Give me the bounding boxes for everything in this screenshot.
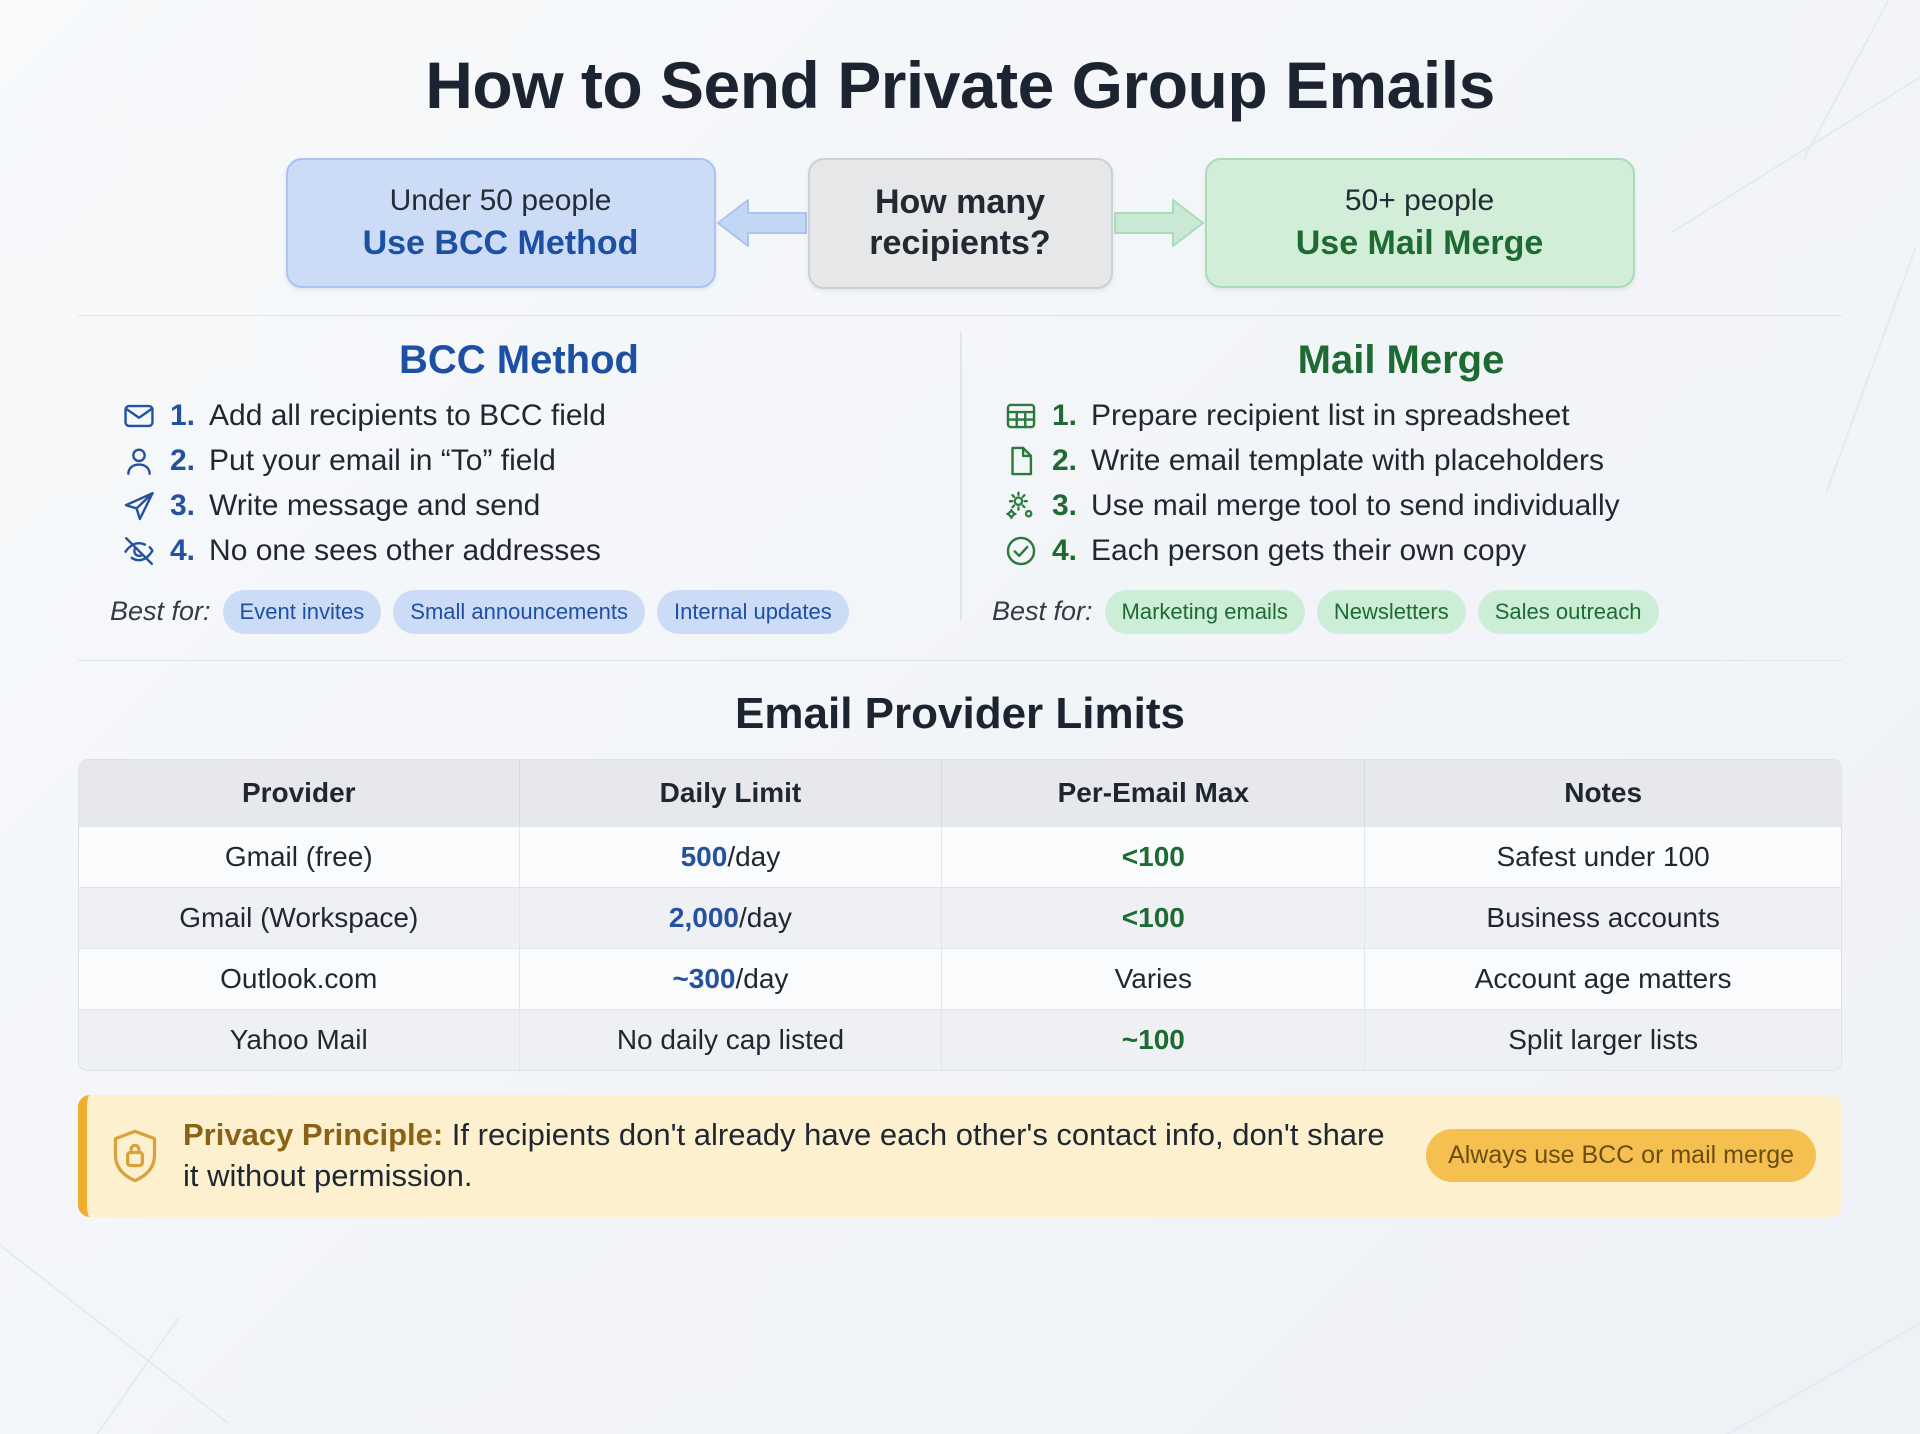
mailmerge-step-3: 3. Use mail merge tool to send individua… <box>982 489 1820 523</box>
column-header-notes: Notes <box>1365 760 1841 826</box>
per-email-value: Varies <box>1115 963 1192 994</box>
divider-bottom <box>78 660 1842 661</box>
mailmerge-step-1-number: 1. <box>1052 399 1077 433</box>
cell-provider: Yahoo Mail <box>79 1009 520 1070</box>
bcc-best-for-label: Best for: <box>110 596 211 627</box>
bcc-tag-1: Event invites <box>223 590 382 634</box>
flow-box-mailmerge: 50+ people Use Mail Merge <box>1205 158 1635 288</box>
cell-provider: Gmail (free) <box>79 826 520 887</box>
cell-per-email-max: <100 <box>942 826 1365 887</box>
bcc-step-1-text: Add all recipients to BCC field <box>209 399 606 433</box>
column-mailmerge: Mail Merge 1. Prepare recipient list in … <box>960 338 1842 634</box>
cell-per-email-max: <100 <box>942 887 1365 948</box>
privacy-principle-text: Privacy Principle: If recipients don't a… <box>183 1115 1404 1197</box>
mailmerge-step-4: 4. Each person gets their own copy <box>982 534 1820 568</box>
decision-flow: Under 50 people Use BCC Method How many … <box>78 158 1842 289</box>
cell-daily-limit: ~300/day <box>520 948 943 1009</box>
provider-limits-table: Provider Daily Limit Per-Email Max Notes… <box>78 759 1842 1071</box>
flow-box-question: How many recipients? <box>808 158 1113 289</box>
flow-box-bcc: Under 50 people Use BCC Method <box>286 158 716 288</box>
document-icon <box>1004 444 1038 478</box>
bcc-step-4: 4. No one sees other addresses <box>100 534 938 568</box>
table-header-row: Provider Daily Limit Per-Email Max Notes <box>79 760 1841 826</box>
mailmerge-heading: Mail Merge <box>982 338 1820 383</box>
send-icon <box>122 489 156 523</box>
column-header-daily-limit: Daily Limit <box>520 760 943 826</box>
privacy-principle-banner: Privacy Principle: If recipients don't a… <box>78 1095 1842 1217</box>
cell-provider: Outlook.com <box>79 948 520 1009</box>
bcc-step-3-text: Write message and send <box>209 489 540 523</box>
column-bcc: BCC Method 1. Add all recipients to BCC … <box>78 338 960 634</box>
mailmerge-tag-3: Sales outreach <box>1478 590 1659 634</box>
envelope-icon <box>122 399 156 433</box>
privacy-badge: Always use BCC or mail merge <box>1426 1129 1816 1182</box>
column-header-provider: Provider <box>79 760 520 826</box>
flow-bcc-action: Use BCC Method <box>318 222 684 265</box>
bcc-step-1: 1. Add all recipients to BCC field <box>100 399 938 433</box>
mailmerge-step-3-number: 3. <box>1052 489 1077 523</box>
flow-mm-condition: 50+ people <box>1237 182 1603 220</box>
bcc-step-4-text: No one sees other addresses <box>209 534 601 568</box>
flow-question-text: How many recipients? <box>840 182 1081 265</box>
gears-icon <box>1004 489 1038 523</box>
daily-suffix: /day <box>736 963 789 994</box>
cell-provider: Gmail (Workspace) <box>79 887 520 948</box>
bcc-step-2: 2. Put your email in “To” field <box>100 444 938 478</box>
privacy-principle-lead: Privacy Principle: <box>183 1117 443 1152</box>
mailmerge-step-2-number: 2. <box>1052 444 1077 478</box>
mailmerge-step-4-number: 4. <box>1052 534 1077 568</box>
table-row: Yahoo Mail No daily cap listed ~100 Spli… <box>79 1009 1841 1070</box>
mailmerge-step-3-text: Use mail merge tool to send individually <box>1091 489 1620 523</box>
cell-notes: Business accounts <box>1365 887 1841 948</box>
daily-suffix: /day <box>727 841 780 872</box>
mailmerge-tag-2: Newsletters <box>1317 590 1466 634</box>
decorative-line <box>63 1318 179 1434</box>
cell-daily-limit: No daily cap listed <box>520 1009 943 1070</box>
table-row: Outlook.com ~300/day Varies Account age … <box>79 948 1841 1009</box>
decorative-line <box>1716 1320 1920 1434</box>
person-icon <box>122 444 156 478</box>
per-email-value: ~100 <box>1122 1024 1185 1055</box>
cell-notes: Split larger lists <box>1365 1009 1841 1070</box>
daily-value: 2,000 <box>669 902 739 933</box>
column-divider <box>960 332 962 620</box>
bcc-tag-2: Small announcements <box>393 590 645 634</box>
bcc-step-1-number: 1. <box>170 399 195 433</box>
daily-suffix: /day <box>739 902 792 933</box>
arrow-right-icon <box>1113 194 1205 252</box>
infographic-page: How to Send Private Group Emails Under 5… <box>0 0 1920 1434</box>
cell-notes: Account age matters <box>1365 948 1841 1009</box>
mailmerge-step-2: 2. Write email template with placeholder… <box>982 444 1820 478</box>
spreadsheet-icon <box>1004 399 1038 433</box>
decorative-line <box>0 1238 229 1424</box>
check-circle-icon <box>1004 534 1038 568</box>
cell-per-email-max: Varies <box>942 948 1365 1009</box>
bcc-step-3: 3. Write message and send <box>100 489 938 523</box>
methods-section: BCC Method 1. Add all recipients to BCC … <box>78 316 1842 634</box>
mailmerge-step-1-text: Prepare recipient list in spreadsheet <box>1091 399 1570 433</box>
bcc-step-3-number: 3. <box>170 489 195 523</box>
table-row: Gmail (Workspace) 2,000/day <100 Busines… <box>79 887 1841 948</box>
daily-value: 500 <box>681 841 728 872</box>
table-title: Email Provider Limits <box>78 689 1842 739</box>
table-row: Gmail (free) 500/day <100 Safest under 1… <box>79 826 1841 887</box>
eye-off-icon <box>122 534 156 568</box>
per-email-value: <100 <box>1122 841 1185 872</box>
column-header-per-email-max: Per-Email Max <box>942 760 1365 826</box>
daily-value: ~300 <box>672 963 735 994</box>
cell-daily-limit: 2,000/day <box>520 887 943 948</box>
arrow-left-icon <box>716 194 808 252</box>
mailmerge-step-2-text: Write email template with placeholders <box>1091 444 1604 478</box>
bcc-step-4-number: 4. <box>170 534 195 568</box>
shield-lock-icon <box>109 1127 161 1185</box>
mailmerge-step-1: 1. Prepare recipient list in spreadsheet <box>982 399 1820 433</box>
bcc-heading: BCC Method <box>100 338 938 383</box>
cell-notes: Safest under 100 <box>1365 826 1841 887</box>
bcc-step-2-text: Put your email in “To” field <box>209 444 556 478</box>
page-title: How to Send Private Group Emails <box>78 0 1842 124</box>
flow-mm-action: Use Mail Merge <box>1237 222 1603 265</box>
bcc-tag-3: Internal updates <box>657 590 849 634</box>
cell-per-email-max: ~100 <box>942 1009 1365 1070</box>
flow-bcc-condition: Under 50 people <box>318 182 684 220</box>
mailmerge-best-for: Best for: Marketing emails Newsletters S… <box>982 590 1820 634</box>
mailmerge-tag-1: Marketing emails <box>1105 590 1305 634</box>
per-email-value: <100 <box>1122 902 1185 933</box>
bcc-step-2-number: 2. <box>170 444 195 478</box>
cell-daily-limit: 500/day <box>520 826 943 887</box>
mailmerge-step-4-text: Each person gets their own copy <box>1091 534 1526 568</box>
daily-value: No daily cap listed <box>617 1024 844 1055</box>
bcc-best-for: Best for: Event invites Small announceme… <box>100 590 938 634</box>
mailmerge-best-for-label: Best for: <box>992 596 1093 627</box>
